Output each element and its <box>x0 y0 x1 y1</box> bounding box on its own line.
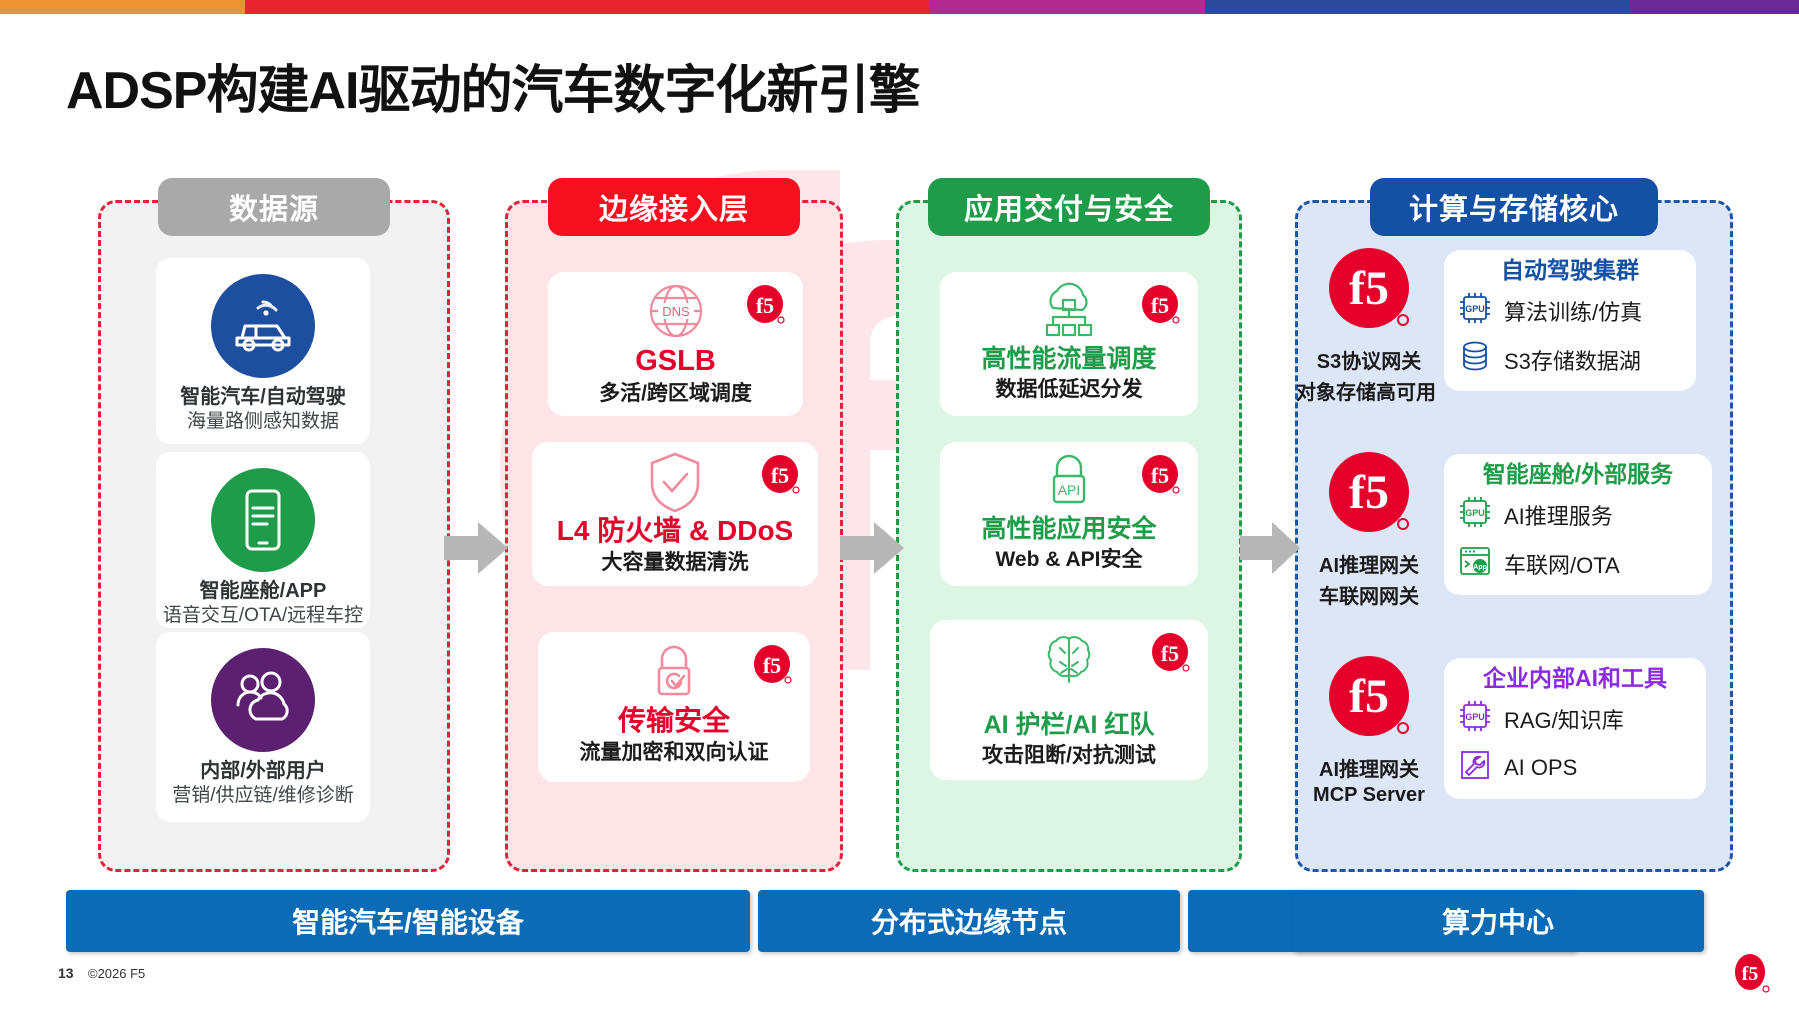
card-title: AI 护栏/AI 红队 <box>930 712 1208 740</box>
row-item: AI OPS <box>1456 746 1694 789</box>
card-title: 高性能流量调度 <box>940 346 1198 374</box>
row-item: App 车联网/OTA <box>1456 542 1700 585</box>
card-title: 传输安全 <box>538 706 810 737</box>
row-enterprise-ai-tools[interactable]: f5 AI推理网关 MCP Server 企业内部AI和工具 GPU RAG/知… <box>1310 666 1710 816</box>
card-title: L4 防火墙 & DDoS <box>532 516 818 547</box>
cluster-box[interactable]: 企业内部AI和工具 GPU RAG/知识库 <box>1444 658 1706 799</box>
svg-text:f5: f5 <box>771 463 789 488</box>
gpu-chip-icon: GPU <box>1456 289 1494 332</box>
card-ai-guardrail-redteam[interactable]: f5 AI 护栏/AI 红队 攻击阻断/对抗测试 <box>930 620 1208 780</box>
column-header-edge-access[interactable]: 边缘接入层 <box>548 178 800 236</box>
box-title: 企业内部AI和工具 <box>1456 666 1694 691</box>
card-title: 高性能应用安全 <box>940 516 1198 544</box>
gateway-line-1: AI推理网关 <box>1310 549 1428 578</box>
svg-text:f5: f5 <box>1151 463 1169 488</box>
row-item: GPU AI推理服务 <box>1456 493 1700 536</box>
f5-logo-badge: f5 <box>750 644 794 688</box>
f5-logo-badge: f5 <box>1148 632 1192 676</box>
card-subtitle: 大容量数据清洗 <box>532 551 818 585</box>
card-gslb[interactable]: DNS f5 GSLB 多活/跨区域调度 <box>548 272 803 416</box>
cloud-network-icon <box>1037 280 1101 345</box>
card-subtitle: 数据低延迟分发 <box>940 378 1198 412</box>
card-title: 内部/外部用户 <box>156 760 370 783</box>
gpu-chip-icon: GPU <box>1456 697 1494 740</box>
card-subtitle: 营销/供应链/维修诊断 <box>156 785 370 808</box>
gateway-line-1: S3协议网关 <box>1310 345 1428 374</box>
arrow-2 <box>840 520 906 576</box>
svg-text:f5: f5 <box>1742 963 1759 985</box>
cluster-box[interactable]: 智能座舱/外部服务 GPU AI推理服务 <box>1444 454 1712 595</box>
gpu-chip-icon: GPU <box>1456 493 1494 536</box>
copyright-text: ©2026 F5 <box>88 966 145 981</box>
row-item: GPU RAG/知识库 <box>1456 697 1694 740</box>
row-smart-cockpit-services[interactable]: f5 AI推理网关 车联网网关 智能座舱/外部服务 GPU AI推理服务 <box>1310 462 1710 612</box>
shield-check-icon <box>646 450 704 519</box>
gateway-line-2: 车联网网关 <box>1310 580 1428 609</box>
row-item: GPU 算法训练/仿真 <box>1456 289 1684 332</box>
card-subtitle: 流量加密和双向认证 <box>538 741 810 775</box>
card-high-perf-traffic[interactable]: f5 高性能流量调度 数据低延迟分发 <box>940 272 1198 416</box>
item-label: RAG/知识库 <box>1504 703 1624 735</box>
arrow-3 <box>1240 520 1302 576</box>
f5-logo-badge: f5 <box>1138 454 1182 498</box>
f5-logo-badge: f5 <box>758 454 802 498</box>
row-autonomous-driving-cluster[interactable]: f5 S3协议网关 对象存储高可用 自动驾驶集群 GPU 算法训练/仿真 <box>1310 258 1710 408</box>
item-label: AI推理服务 <box>1504 499 1613 531</box>
svg-text:f5: f5 <box>1349 262 1389 315</box>
card-subtitle: 语音交互/OTA/远程车控 <box>156 605 370 628</box>
gateway-line-1: AI推理网关 <box>1310 753 1428 782</box>
svg-text:GPU: GPU <box>1465 712 1485 722</box>
svg-text:f5: f5 <box>756 293 774 318</box>
f5-logo-large: f5 S3协议网关 对象存储高可用 <box>1310 246 1428 405</box>
column-header-data-source[interactable]: 数据源 <box>158 178 390 236</box>
svg-text:GPU: GPU <box>1465 508 1485 518</box>
bottom-bar-compute-center[interactable]: 算力中心 <box>1292 890 1704 952</box>
bottom-bar-smart-vehicle[interactable]: 智能汽车/智能设备 <box>66 890 750 952</box>
api-lock-icon: API <box>1042 450 1096 517</box>
row-item: S3存储数据湖 <box>1456 338 1684 381</box>
dns-globe-icon: DNS <box>645 280 707 347</box>
svg-text:GPU: GPU <box>1465 304 1485 314</box>
svg-text:App: App <box>1473 564 1487 571</box>
column-header-compute-core[interactable]: 计算与存储核心 <box>1370 178 1658 236</box>
lock-check-icon <box>646 640 702 709</box>
card-title: 智能座舱/APP <box>156 580 370 603</box>
item-label: AI OPS <box>1504 755 1577 781</box>
f5-logo-footer: f5 <box>1731 952 1771 996</box>
svg-text:API: API <box>1058 482 1081 498</box>
brain-icon <box>1040 628 1098 695</box>
item-label: 算法训练/仿真 <box>1504 295 1642 327</box>
gateway-line-2: MCP Server <box>1310 784 1428 807</box>
card-high-perf-app-security[interactable]: API f5 高性能应用安全 Web & API安全 <box>940 442 1198 586</box>
box-title: 智能座舱/外部服务 <box>1456 462 1700 487</box>
svg-text:f5: f5 <box>1349 466 1389 519</box>
slide-number: 13 <box>58 965 74 981</box>
arrow-1 <box>444 520 510 576</box>
card-l4-firewall-ddos[interactable]: f5 L4 防火墙 & DDoS 大容量数据清洗 <box>532 442 818 586</box>
wrench-icon <box>1456 746 1494 789</box>
f5-logo-badge: f5 <box>743 284 787 328</box>
item-label: S3存储数据湖 <box>1504 344 1641 376</box>
smartphone-icon <box>211 468 315 572</box>
card-subtitle: 攻击阻断/对抗测试 <box>930 744 1208 778</box>
svg-text:f5: f5 <box>1161 641 1179 666</box>
gateway-line-2: 对象存储高可用 <box>1296 376 1428 405</box>
svg-text:f5: f5 <box>1349 670 1389 723</box>
database-icon <box>1456 338 1494 381</box>
connected-car-icon <box>211 274 315 378</box>
f5-logo-large: f5 AI推理网关 MCP Server <box>1310 654 1428 807</box>
card-smart-cockpit[interactable]: 智能座舱/APP 语音交互/OTA/远程车控 <box>156 452 370 628</box>
item-label: 车联网/OTA <box>1504 548 1620 580</box>
card-internal-external-users[interactable]: 内部/外部用户 营销/供应链/维修诊断 <box>156 632 370 822</box>
card-title: GSLB <box>548 346 803 378</box>
bottom-bar-edge-nodes[interactable]: 分布式边缘节点 <box>758 890 1180 952</box>
card-subtitle: Web & API安全 <box>940 548 1198 582</box>
svg-text:f5: f5 <box>763 653 781 678</box>
f5-logo-large: f5 AI推理网关 车联网网关 <box>1310 450 1428 609</box>
card-transport-security[interactable]: f5 传输安全 流量加密和双向认证 <box>538 632 810 782</box>
card-title: 智能汽车/自动驾驶 <box>156 386 370 409</box>
card-smart-car[interactable]: 智能汽车/自动驾驶 海量路侧感知数据 <box>156 258 370 444</box>
card-subtitle: 多活/跨区域调度 <box>548 382 803 416</box>
cluster-box[interactable]: 自动驾驶集群 GPU 算法训练/仿真 <box>1444 250 1696 391</box>
svg-text:f5: f5 <box>1151 293 1169 318</box>
card-subtitle: 海量路侧感知数据 <box>156 411 370 434</box>
box-title: 自动驾驶集群 <box>1456 258 1684 283</box>
svg-text:DNS: DNS <box>662 304 690 319</box>
f5-logo-badge: f5 <box>1138 284 1182 328</box>
app-window-icon: App <box>1456 542 1494 585</box>
column-header-app-delivery[interactable]: 应用交付与安全 <box>928 178 1210 236</box>
users-cloud-icon <box>211 648 315 752</box>
